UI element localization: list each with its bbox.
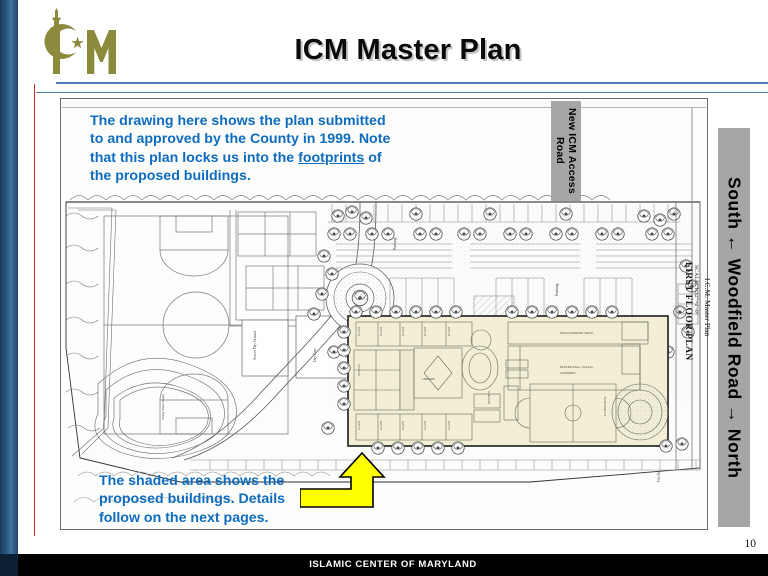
callout-top: The drawing here shows the plan submitte…	[90, 112, 460, 186]
footprints-underlined: footprints	[298, 150, 364, 166]
callout-top-line3-a: that this plan locks us into the	[90, 150, 298, 166]
label-woodfield-road: South ← Woodfield Road → North	[718, 128, 750, 527]
slide-header: ICM Master Plan	[18, 0, 768, 82]
slide: ICM Master Plan	[0, 0, 768, 576]
callout-top-line2: to and approved by the County in 1999. N…	[90, 130, 460, 148]
label-new-icm-access-road-text: New ICM Access Road	[554, 101, 578, 201]
footer-text: ISLAMIC CENTER OF MARYLAND	[18, 554, 768, 576]
title-block-project: I.C.M. Master Plan	[703, 278, 712, 336]
yellow-elbow-arrow	[300, 445, 410, 520]
page-title: ICM Master Plan	[138, 34, 678, 67]
slide-footer: ISLAMIC CENTER OF MARYLAND	[18, 554, 768, 576]
icm-logo	[32, 8, 118, 76]
header-rule-top	[56, 82, 768, 84]
title-block-sheet-title: FIRST FLOOR PLAN	[683, 262, 693, 361]
callout-top-line1: The drawing here shows the plan submitte…	[90, 112, 460, 130]
label-new-icm-access-road: New ICM Access Road	[551, 101, 581, 201]
callout-top-line4: the proposed buildings.	[90, 167, 460, 185]
left-accent-bar	[0, 0, 18, 576]
label-woodfield-road-text: South ← Woodfield Road → North	[724, 177, 745, 479]
left-red-guide-line	[34, 84, 35, 536]
page-number: 10	[745, 538, 757, 550]
title-block-scale: SCALE: 1/32"=1'-0"	[693, 265, 699, 315]
callout-top-line3: that this plan locks us into the footpri…	[90, 149, 460, 167]
footer-left-cap	[0, 554, 18, 576]
header-rule-bottom	[36, 92, 768, 93]
callout-top-line3-b: of	[364, 150, 381, 166]
